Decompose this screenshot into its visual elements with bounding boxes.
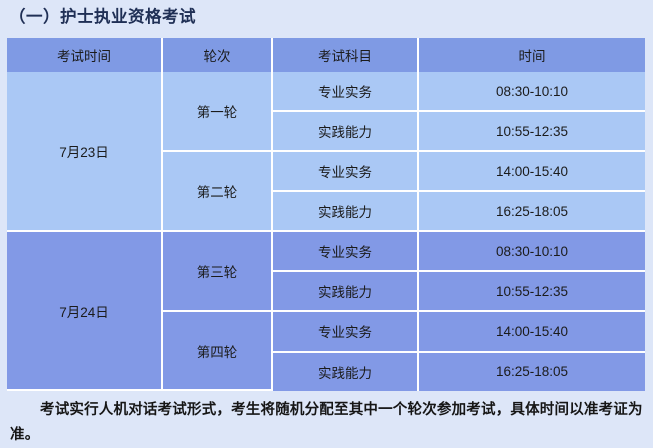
cell-time: 16:25-18:05 xyxy=(419,353,645,392)
footnote-text: 考试实行人机对话考试形式，考生将随机分配至其中一个轮次参加考试，具体时间以准考证… xyxy=(10,398,644,448)
column-header-subject: 考试科目 xyxy=(273,38,419,72)
table-row: 7月24日 第三轮 专业实务 08:30-10:10 xyxy=(7,232,645,272)
cell-time: 14:00-15:40 xyxy=(419,152,645,192)
cell-subject: 专业实务 xyxy=(273,72,419,112)
cell-exam-date: 7月23日 xyxy=(7,72,163,232)
cell-time: 10:55-12:35 xyxy=(419,112,645,152)
table-body: 7月23日 第一轮 专业实务 08:30-10:10 实践能力 10:55-12… xyxy=(7,72,645,391)
cell-subject: 实践能力 xyxy=(273,112,419,152)
cell-exam-date: 7月24日 xyxy=(7,232,163,391)
cell-round: 第四轮 xyxy=(163,312,273,391)
page-title: （一）护士执业资格考试 xyxy=(9,3,196,27)
exam-schedule-table: 考试时间 轮次 考试科目 时间 7月23日 第一轮 专业实务 08:30-10:… xyxy=(7,38,645,391)
cell-subject: 实践能力 xyxy=(273,353,419,392)
cell-round: 第一轮 xyxy=(163,72,273,152)
cell-subject: 专业实务 xyxy=(273,232,419,272)
column-header-round: 轮次 xyxy=(163,38,273,72)
table-header-row: 考试时间 轮次 考试科目 时间 xyxy=(7,38,645,72)
cell-time: 08:30-10:10 xyxy=(419,232,645,272)
cell-time: 16:25-18:05 xyxy=(419,192,645,232)
cell-subject: 专业实务 xyxy=(273,152,419,192)
cell-time: 10:55-12:35 xyxy=(419,272,645,312)
cell-time: 14:00-15:40 xyxy=(419,312,645,353)
table-row: 7月23日 第一轮 专业实务 08:30-10:10 xyxy=(7,72,645,112)
column-header-time: 时间 xyxy=(419,38,645,72)
column-header-exam-time: 考试时间 xyxy=(7,38,163,72)
cell-subject: 专业实务 xyxy=(273,312,419,353)
cell-subject: 实践能力 xyxy=(273,192,419,232)
cell-time: 08:30-10:10 xyxy=(419,72,645,112)
exam-schedule-page: （一）护士执业资格考试 考试时间 轮次 考试科目 时间 7月23日 第一轮 专业… xyxy=(0,0,653,445)
cell-round: 第二轮 xyxy=(163,152,273,232)
cell-subject: 实践能力 xyxy=(273,272,419,312)
cell-round: 第三轮 xyxy=(163,232,273,312)
table-header: 考试时间 轮次 考试科目 时间 xyxy=(7,38,645,72)
